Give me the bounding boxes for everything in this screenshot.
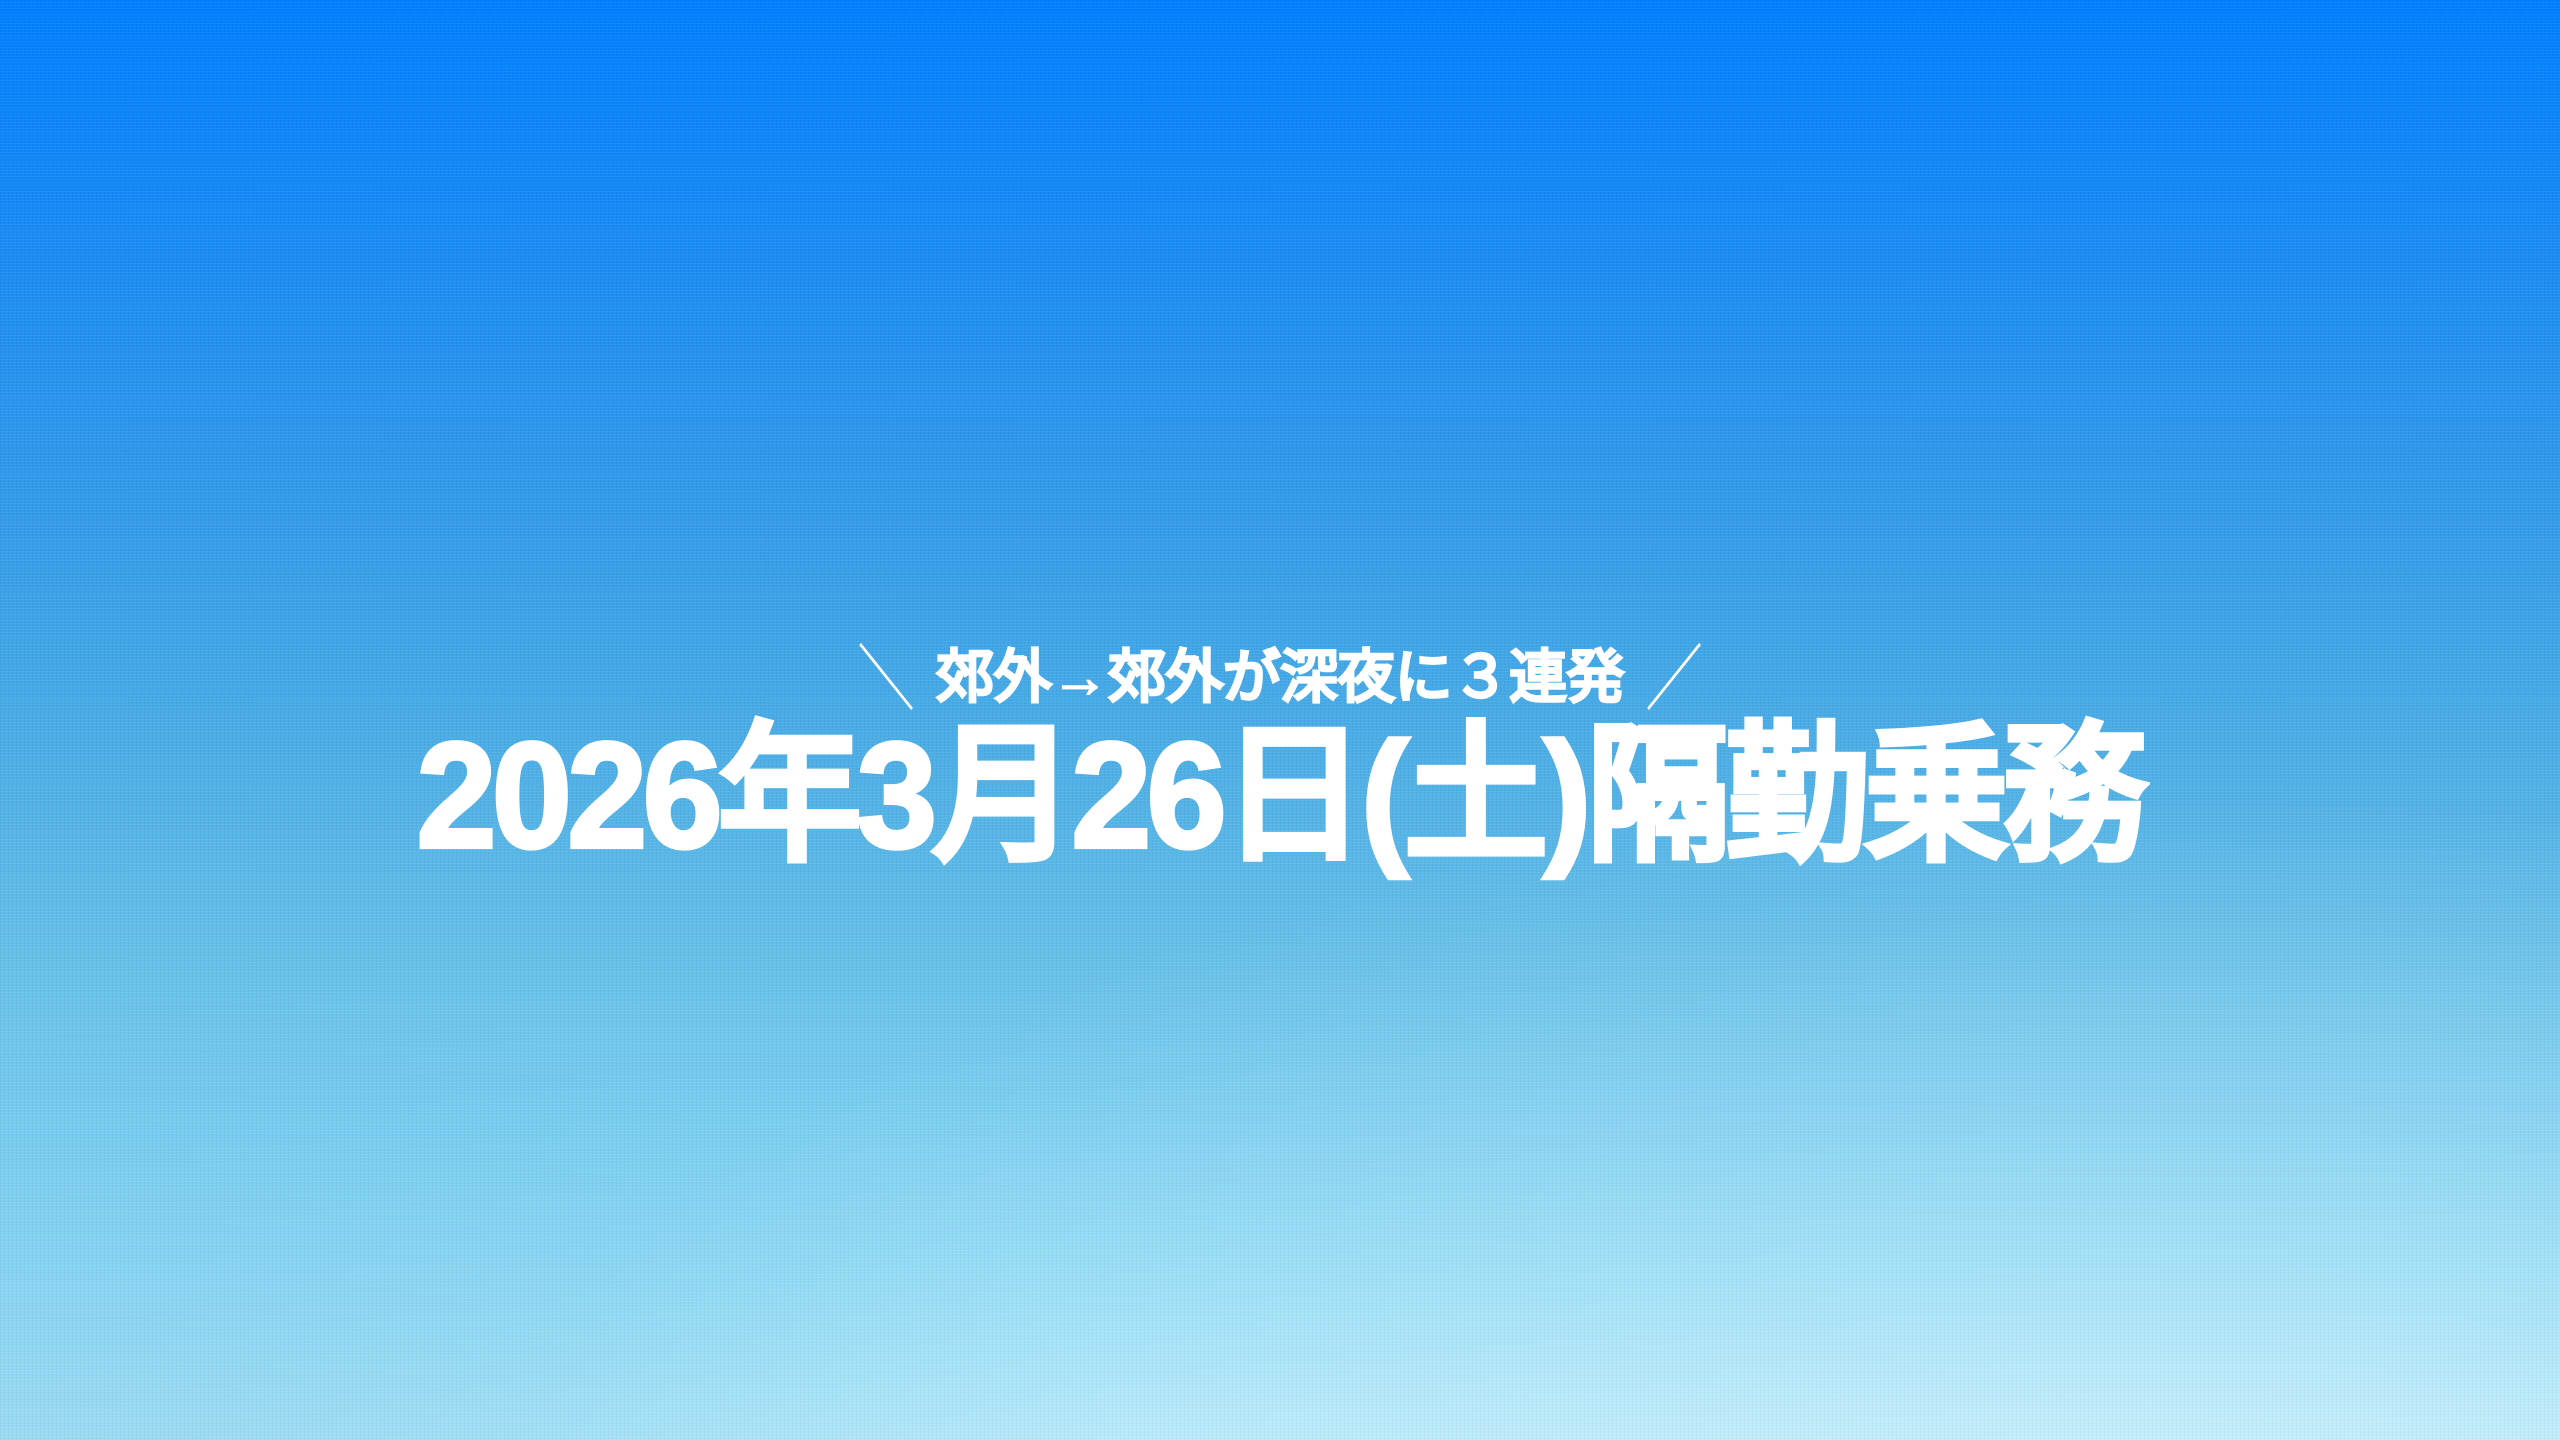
kicker-line: ＼ 郊外→郊外が深夜に３連発 ／ (850, 642, 1710, 714)
kicker-close-slash-icon: ／ (1645, 644, 1703, 716)
title-block: ＼ 郊外→郊外が深夜に３連発 ／ 2026年3月26日(土)隔勤乗務 (0, 0, 2560, 1440)
eyecatch-canvas: ＼ 郊外→郊外が深夜に３連発 ／ 2026年3月26日(土)隔勤乗務 (0, 0, 2560, 1440)
kicker-open-slash-icon: ＼ (857, 644, 915, 716)
kicker-text: 郊外→郊外が深夜に３連発 (936, 646, 1624, 710)
page-title: 2026年3月26日(土)隔勤乗務 (417, 720, 2143, 870)
